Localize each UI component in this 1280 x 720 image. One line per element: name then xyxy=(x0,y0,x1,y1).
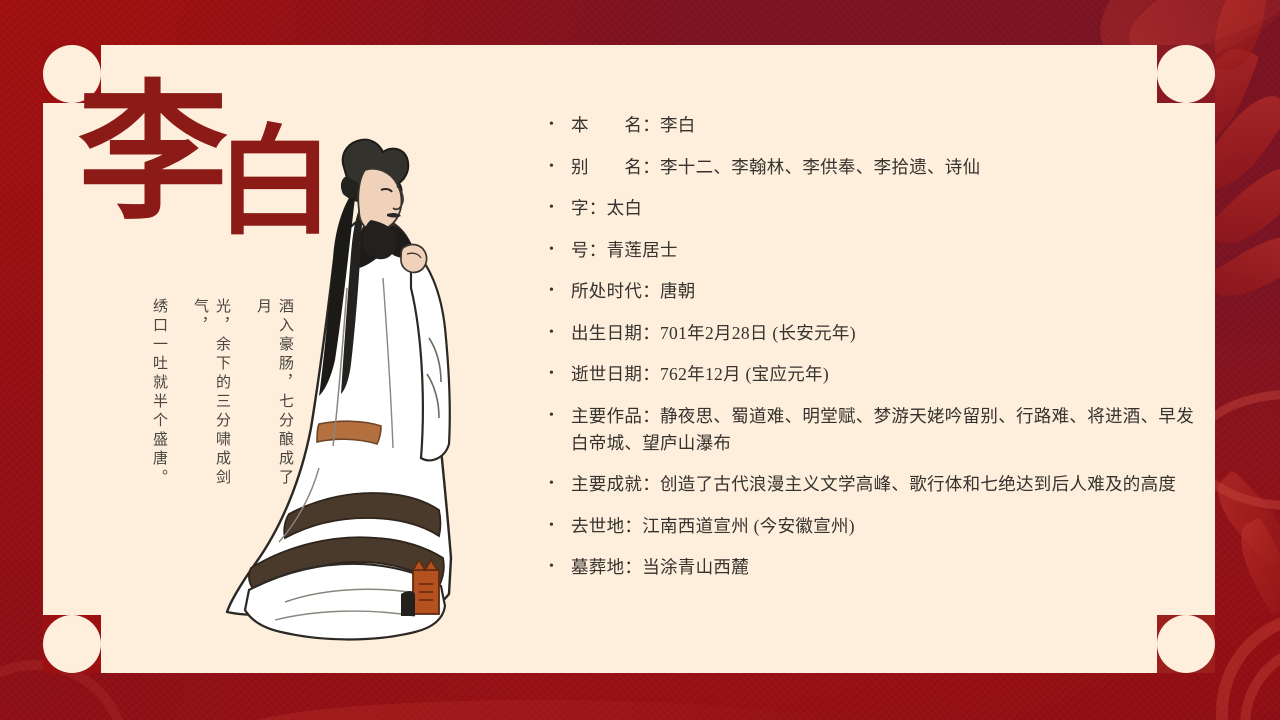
info-row: •墓葬地：当涂青山西麓 xyxy=(545,554,1205,581)
bullet-dot-icon: • xyxy=(545,112,571,138)
info-row-label: 主要作品： xyxy=(571,406,660,426)
info-row-value: 静夜思、蜀道难、明堂赋、梦游天姥吟留别、行路难、将进酒、早发白帝城、望庐山瀑布 xyxy=(571,406,1194,453)
info-row-text: 所处时代：唐朝 xyxy=(571,278,696,305)
info-row-label: 出生日期： xyxy=(571,323,660,343)
poem-column-3: 绣口一吐就半个盛唐。 xyxy=(148,298,170,498)
card-notch-bottom-right xyxy=(1157,615,1215,673)
bullet-dot-icon: • xyxy=(545,320,571,346)
card-notch-top-right xyxy=(1157,45,1215,103)
info-row-text: 去世地：江南西道宣州 (今安徽宣州) xyxy=(571,513,855,540)
info-row: •主要作品：静夜思、蜀道难、明堂赋、梦游天姥吟留别、行路难、将进酒、早发白帝城、… xyxy=(545,403,1205,457)
info-row-value: 701年2月28日 (长安元年) xyxy=(660,323,856,343)
info-row-text: 本 名：李白 xyxy=(571,112,696,139)
li-bai-illustration xyxy=(215,128,515,668)
info-row-label: 别 名： xyxy=(571,157,660,177)
bullet-dot-icon: • xyxy=(545,195,571,221)
info-row-text: 别 名：李十二、李翰林、李供奉、李拾遗、诗仙 xyxy=(571,154,980,181)
bullet-dot-icon: • xyxy=(545,361,571,387)
info-list: •本 名：李白•别 名：李十二、李翰林、李供奉、李拾遗、诗仙•字：太白•号：青莲… xyxy=(545,112,1205,596)
info-row: •出生日期：701年2月28日 (长安元年) xyxy=(545,320,1205,347)
info-row-value: 李十二、李翰林、李供奉、李拾遗、诗仙 xyxy=(660,157,980,177)
bullet-dot-icon: • xyxy=(545,554,571,580)
info-row: •主要成就：创造了古代浪漫主义文学高峰、歌行体和七绝达到后人难及的高度 xyxy=(545,471,1205,498)
info-row-value: 762年12月 (宝应元年) xyxy=(660,364,829,384)
card-notch-bottom-left xyxy=(43,615,101,673)
info-row-label: 逝世日期： xyxy=(571,364,660,384)
info-row-text: 墓葬地：当涂青山西麓 xyxy=(571,554,749,581)
bullet-dot-icon: • xyxy=(545,471,571,497)
bullet-dot-icon: • xyxy=(545,278,571,304)
info-row-label: 主要成就： xyxy=(571,474,660,494)
info-row: •字：太白 xyxy=(545,195,1205,222)
info-row-label: 字： xyxy=(571,198,607,218)
info-row-text: 出生日期：701年2月28日 (长安元年) xyxy=(571,320,856,347)
info-row-text: 主要作品：静夜思、蜀道难、明堂赋、梦游天姥吟留别、行路难、将进酒、早发白帝城、望… xyxy=(571,403,1205,457)
info-row-label: 墓葬地： xyxy=(571,557,642,577)
info-row: •本 名：李白 xyxy=(545,112,1205,139)
info-row-label: 号： xyxy=(571,240,607,260)
slide-root: 李白 酒入豪肠，七分酿成了月 光，余下的三分啸成剑气， 绣口一吐就半个盛唐。 xyxy=(0,0,1280,720)
bullet-dot-icon: • xyxy=(545,154,571,180)
info-row-text: 号：青莲居士 xyxy=(571,237,678,264)
info-row: •号：青莲居士 xyxy=(545,237,1205,264)
info-row-text: 字：太白 xyxy=(571,195,642,222)
info-row-value: 当涂青山西麓 xyxy=(642,557,749,577)
info-row-text: 逝世日期：762年12月 (宝应元年) xyxy=(571,361,829,388)
info-row: •别 名：李十二、李翰林、李供奉、李拾遗、诗仙 xyxy=(545,154,1205,181)
bullet-dot-icon: • xyxy=(545,513,571,539)
info-row-label: 去世地： xyxy=(571,516,642,536)
info-row-text: 主要成就：创造了古代浪漫主义文学高峰、歌行体和七绝达到后人难及的高度 xyxy=(571,471,1176,498)
info-row-value: 唐朝 xyxy=(660,281,696,301)
info-row-value: 创造了古代浪漫主义文学高峰、歌行体和七绝达到后人难及的高度 xyxy=(660,474,1176,494)
info-row: •去世地：江南西道宣州 (今安徽宣州) xyxy=(545,513,1205,540)
info-row-value: 李白 xyxy=(660,115,696,135)
bullet-dot-icon: • xyxy=(545,237,571,263)
info-row-label: 所处时代： xyxy=(571,281,660,301)
info-row: •所处时代：唐朝 xyxy=(545,278,1205,305)
info-row-value: 太白 xyxy=(607,198,643,218)
info-row-value: 青莲居士 xyxy=(607,240,678,260)
info-row: •逝世日期：762年12月 (宝应元年) xyxy=(545,361,1205,388)
info-row-label: 本 名： xyxy=(571,115,660,135)
info-row-value: 江南西道宣州 (今安徽宣州) xyxy=(642,516,855,536)
title-char-li: 李 xyxy=(78,65,224,241)
bullet-dot-icon: • xyxy=(545,403,571,429)
